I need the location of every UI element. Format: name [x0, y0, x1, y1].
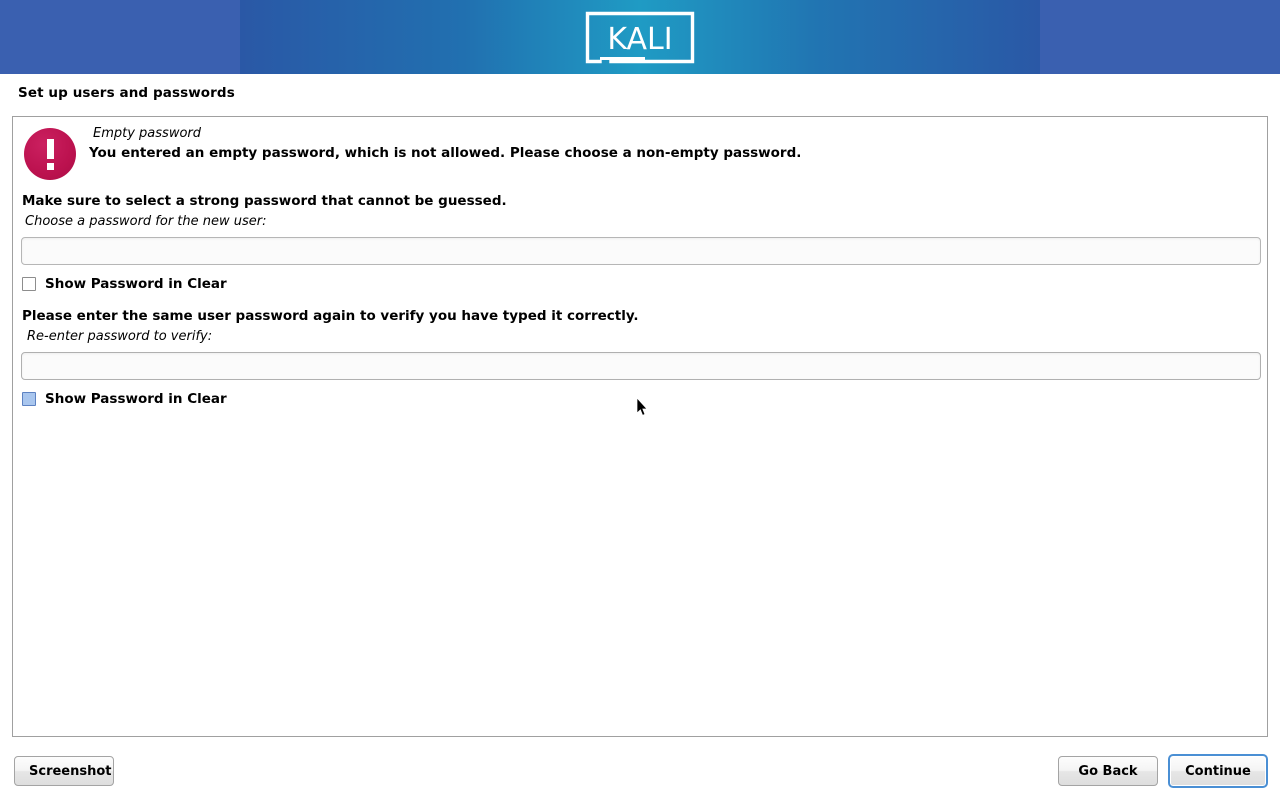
password-input-wrapper	[21, 237, 1261, 265]
verify-field-label: Re-enter password to verify:	[27, 329, 212, 344]
strong-password-note: Make sure to select a strong password th…	[22, 193, 507, 209]
kali-banner: KALI	[0, 0, 1280, 74]
banner-right-fill	[1040, 0, 1280, 74]
verify-password-input[interactable]	[21, 352, 1261, 380]
exclamation-bar	[47, 139, 54, 159]
verify-password-note: Please enter the same user password agai…	[22, 308, 639, 324]
screenshot-button[interactable]: Screenshot	[14, 756, 114, 786]
go-back-button[interactable]: Go Back	[1058, 756, 1158, 786]
show-password-checkbox-1[interactable]	[22, 277, 36, 291]
error-message: You entered an empty password, which is …	[89, 145, 801, 161]
kali-logo-text: KALI	[607, 22, 672, 57]
installer-window: KALI Set up users and passwords Empty pa…	[0, 0, 1280, 800]
show-password-row-1[interactable]: Show Password in Clear	[22, 276, 227, 292]
error-title: Empty password	[93, 126, 201, 141]
continue-button[interactable]: Continue	[1168, 754, 1268, 788]
verify-input-wrapper	[21, 352, 1261, 380]
footer-bar: Screenshot Go Back Continue	[0, 748, 1280, 800]
error-exclamation-icon	[24, 128, 76, 180]
show-password-label-1: Show Password in Clear	[45, 276, 227, 292]
show-password-row-2[interactable]: Show Password in Clear	[22, 391, 227, 407]
kali-logo: KALI	[583, 9, 697, 66]
password-field-label: Choose a password for the new user:	[25, 214, 267, 229]
content-panel: Empty password You entered an empty pass…	[12, 116, 1268, 737]
page-title: Set up users and passwords	[18, 85, 235, 101]
exclamation-dot	[47, 163, 54, 170]
password-input[interactable]	[21, 237, 1261, 265]
banner-left-fill	[0, 0, 240, 74]
show-password-checkbox-2[interactable]	[22, 392, 36, 406]
show-password-label-2: Show Password in Clear	[45, 391, 227, 407]
